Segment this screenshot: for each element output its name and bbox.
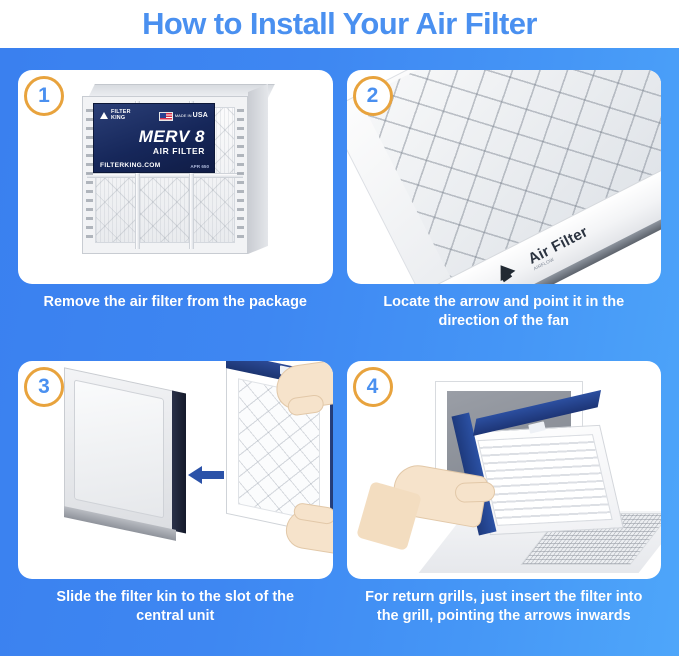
step-2-illustration: Air Filter AIRFLOW — [347, 70, 662, 284]
merv-rating: MERV 8 — [100, 127, 208, 147]
apr-text: APR 650 — [190, 164, 209, 169]
step-3-card: 3 — [18, 361, 333, 579]
central-unit-slot-opening — [172, 391, 186, 534]
step-4-illustration — [347, 361, 662, 579]
filter-corner: Air Filter AIRFLOW — [347, 70, 662, 284]
step-1-illustration: FILTER KING MADE IN USA — [18, 70, 333, 284]
step-2-caption: Locate the arrow and point it in the dir… — [347, 293, 662, 331]
made-in-label: MADE IN — [175, 113, 192, 118]
filter-edge-tabs-left — [86, 109, 93, 241]
insert-direction-arrow-icon — [188, 465, 224, 483]
filter-product-label: FILTER KING MADE IN USA — [93, 103, 215, 173]
step-3-caption: Slide the filter kin to the slot of the … — [18, 588, 333, 626]
filter-support-bar-h — [87, 173, 243, 178]
central-unit-slot-face — [64, 367, 174, 530]
country-label: USA — [193, 112, 208, 119]
step-3-illustration — [18, 361, 333, 579]
usa-flag-icon — [159, 112, 173, 121]
product-type: AIR FILTER — [100, 146, 208, 156]
made-in-text: MADE IN USA — [175, 112, 208, 120]
forearm — [356, 481, 422, 551]
step-1-card: 1 — [18, 70, 333, 284]
step-4: 4 For return grills, just insert the fil… — [347, 361, 662, 652]
infographic-page: How to Install Your Air Filter 1 — [0, 0, 679, 656]
filter-edge-tabs-right — [237, 109, 244, 241]
page-title: How to Install Your Air Filter — [142, 6, 537, 42]
step-4-card: 4 — [347, 361, 662, 579]
brand-lockup: FILTER KING — [100, 110, 131, 121]
step-2: 2 Air Filter AIRFLOW — [347, 70, 662, 357]
label-header-row: FILTER KING MADE IN USA — [100, 108, 208, 124]
crown-icon — [100, 111, 109, 122]
title-bar: How to Install Your Air Filter — [0, 0, 679, 48]
step-1-caption: Remove the air filter from the package — [18, 293, 333, 312]
website-text: FILTERKING.COM — [100, 162, 161, 169]
airflow-arrow-icon — [491, 261, 517, 284]
step-3-badge: 3 — [24, 367, 64, 407]
step-2-badge: 2 — [353, 76, 393, 116]
filter-box-face: FILTER KING MADE IN USA — [82, 96, 248, 254]
step-4-caption: For return grills, just insert the filte… — [347, 588, 662, 626]
filter-box-side — [248, 84, 268, 254]
step-1-badge: 1 — [24, 76, 64, 116]
brand-name: FILTER KING — [111, 110, 131, 121]
step-1: 1 — [18, 70, 333, 357]
step-3: 3 Slide the filter kin to the slot of th… — [18, 361, 333, 652]
brand-line-2: KING — [111, 115, 125, 121]
steps-grid: 1 — [0, 48, 679, 656]
air-filter-box: FILTER KING MADE IN USA — [82, 84, 268, 252]
label-footer-row: FILTERKING.COM APR 650 — [100, 162, 209, 169]
step-4-badge: 4 — [353, 367, 393, 407]
made-in-lockup: MADE IN USA — [159, 112, 208, 121]
step-2-card: 2 Air Filter AIRFLOW — [347, 70, 662, 284]
